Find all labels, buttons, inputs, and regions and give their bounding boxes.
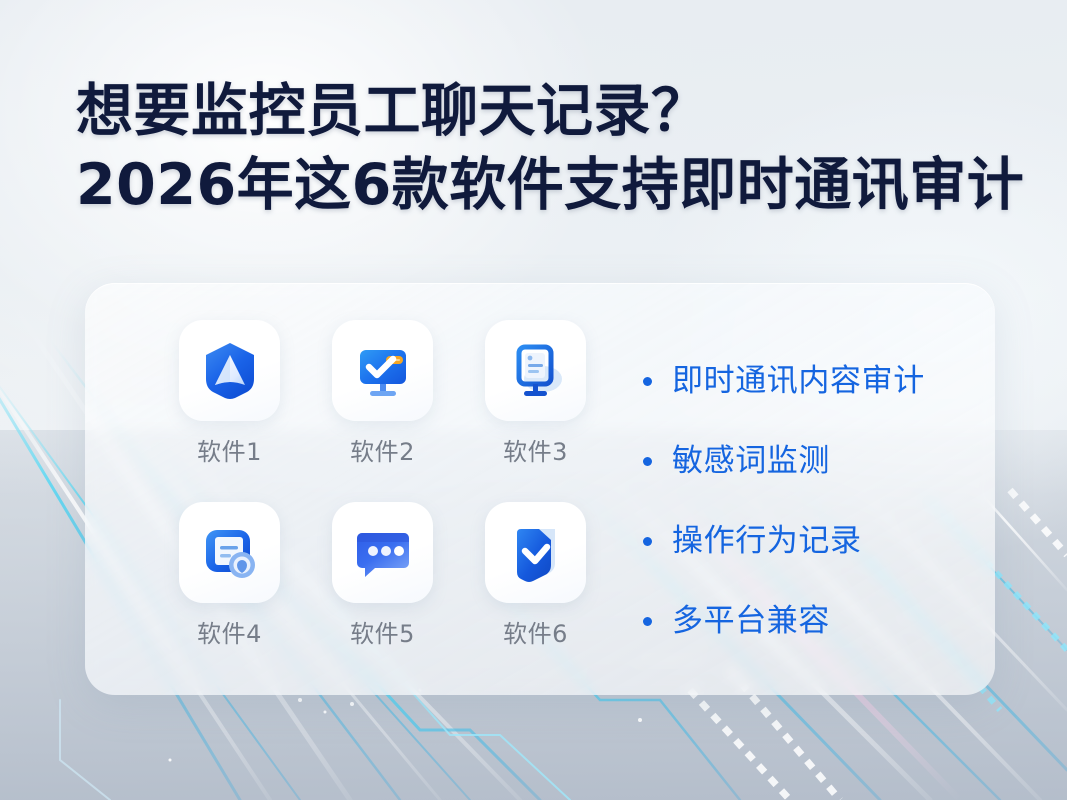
shield-pen-icon bbox=[197, 338, 263, 404]
bullet-dot-icon bbox=[643, 617, 652, 626]
chat-bubble-dots-icon bbox=[350, 520, 416, 586]
headline-line-2: 2026年这6款软件支持即时通讯审计 bbox=[76, 148, 996, 222]
software-icon-tile-5[interactable] bbox=[332, 502, 433, 603]
software-label-2: 软件2 bbox=[350, 438, 415, 466]
software-icon-grid: 软件1 bbox=[85, 283, 625, 695]
software-icon-tile-1[interactable] bbox=[179, 320, 280, 421]
software-item-2[interactable]: 软件2 bbox=[306, 320, 459, 502]
feature-text: 多平台兼容 bbox=[672, 601, 830, 641]
document-search-icon bbox=[197, 520, 263, 586]
content-card: 软件1 bbox=[85, 283, 995, 695]
software-icon-tile-2[interactable] bbox=[332, 320, 433, 421]
headline: 想要监控员工聊天记录？ 2026年这6款软件支持即时通讯审计 bbox=[76, 74, 996, 222]
feature-item: 操作行为记录 bbox=[643, 505, 995, 577]
bullet-dot-icon bbox=[643, 377, 652, 386]
feature-item: 即时通讯内容审计 bbox=[643, 345, 995, 417]
headline-line-1: 想要监控员工聊天记录？ bbox=[76, 74, 996, 148]
software-label-1: 软件1 bbox=[197, 438, 262, 466]
software-item-1[interactable]: 软件1 bbox=[153, 320, 306, 502]
software-label-4: 软件4 bbox=[197, 620, 262, 648]
poster-canvas: 想要监控员工聊天记录？ 2026年这6款软件支持即时通讯审计 bbox=[0, 0, 1067, 800]
feature-item: 敏感词监测 bbox=[643, 425, 995, 497]
feature-list: 即时通讯内容审计 敏感词监测 操作行为记录 多平台兼容 bbox=[625, 283, 995, 695]
software-item-4[interactable]: 软件4 bbox=[153, 502, 306, 684]
software-icon-tile-4[interactable] bbox=[179, 502, 280, 603]
software-item-6[interactable]: 软件6 bbox=[459, 502, 612, 684]
software-icon-tile-6[interactable] bbox=[485, 502, 586, 603]
software-label-5: 软件5 bbox=[350, 620, 415, 648]
software-label-6: 软件6 bbox=[503, 620, 568, 648]
monitor-check-icon bbox=[350, 338, 416, 404]
feature-text: 操作行为记录 bbox=[672, 521, 862, 561]
bullet-dot-icon bbox=[643, 537, 652, 546]
feature-text: 敏感词监测 bbox=[672, 441, 830, 481]
feature-text: 即时通讯内容审计 bbox=[672, 361, 925, 401]
monitor-document-icon bbox=[503, 338, 569, 404]
folder-download-icon bbox=[503, 520, 569, 586]
software-item-5[interactable]: 软件5 bbox=[306, 502, 459, 684]
bullet-dot-icon bbox=[643, 457, 652, 466]
software-icon-tile-3[interactable] bbox=[485, 320, 586, 421]
software-label-3: 软件3 bbox=[503, 438, 568, 466]
feature-item: 多平台兼容 bbox=[643, 585, 995, 657]
software-item-3[interactable]: 软件3 bbox=[459, 320, 612, 502]
